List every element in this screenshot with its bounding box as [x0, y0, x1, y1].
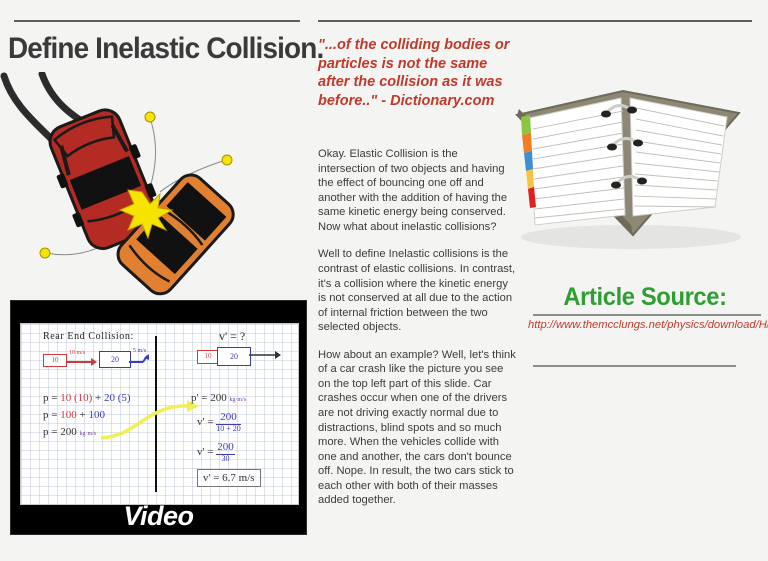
debris-dot-3 — [40, 248, 50, 258]
eq1-lhs: p = — [43, 392, 57, 404]
left-arrow-a — [67, 358, 97, 366]
left-diagram-velocity-a: 10 m/s — [69, 350, 85, 356]
eq2-plus: + — [79, 409, 85, 421]
notebook-page-right — [630, 98, 727, 216]
body-text-column: Okay. Elastic Collision is the intersect… — [318, 147, 516, 521]
r-eq3-fraction: 200 30 — [216, 442, 235, 463]
tab-blue — [524, 151, 533, 171]
right-equation-3: v' = 200 30 — [197, 442, 235, 463]
left-equation-3: p = 200 kg·m/s — [43, 426, 96, 438]
body-paragraph-2: Well to define Inelastic collisions is t… — [318, 247, 516, 334]
r-eq2-fraction: 200 10 + 20 — [216, 412, 241, 433]
r-eq1-lhs: p' = — [191, 392, 207, 404]
tab-yellow — [526, 169, 534, 189]
debris-dot-1 — [145, 112, 155, 122]
tab-green — [521, 115, 531, 135]
right-diagram-mass-a: 10 — [197, 350, 219, 364]
left-diagram-mass-a: 10 — [43, 354, 67, 367]
debris-dot-2 — [222, 155, 232, 165]
article-source-rule-bottom — [533, 365, 736, 367]
notebook-page-left — [529, 98, 625, 225]
r-eq3-lhs: v' = — [197, 446, 213, 458]
right-equation-2: v' = 200 10 + 20 — [197, 412, 241, 433]
slide-root: Define Inelastic Collision. — [0, 0, 768, 561]
video-label: Video — [11, 501, 306, 532]
flow-arrow — [99, 398, 203, 440]
left-arrow-b — [129, 354, 151, 366]
article-source-rule-top — [533, 314, 761, 316]
body-paragraph-1: Okay. Elastic Collision is the intersect… — [318, 147, 516, 234]
r-eq2-numerator: 200 — [216, 412, 241, 425]
divider-rule-right — [318, 20, 752, 22]
whiteboard: Rear End Collision: 10 10 m/s 20 5 m/s p… — [20, 323, 299, 505]
r-eq1-unit: kg·m/s — [229, 397, 246, 403]
whiteboard-answer: v' = 6.7 m/s — [197, 469, 261, 487]
right-arrow — [249, 351, 281, 359]
notebook-illustration — [505, 85, 750, 260]
article-source-url[interactable]: http://www.themcclungs.net/physics/downl… — [528, 318, 764, 333]
r-eq3-numerator: 200 — [216, 442, 235, 455]
eq3-lhs: p = — [43, 426, 57, 438]
r-eq2-lhs: v' = — [197, 416, 213, 428]
eq3-a: 200 — [60, 426, 77, 438]
r-eq1-val: 200 — [210, 392, 227, 404]
left-equation-2: p = 100 + 100 — [43, 409, 105, 421]
eq1-a: 10 (10) — [60, 392, 92, 404]
eq2-a: 100 — [60, 409, 77, 421]
r-eq2-denominator: 10 + 20 — [216, 425, 241, 434]
body-paragraph-3: How about an example? Well, let's think … — [318, 348, 516, 508]
right-diagram-mass-b: 20 — [217, 347, 251, 366]
eq2-lhs: p = — [43, 409, 57, 421]
article-source-heading: Article Source: — [536, 283, 755, 312]
dictionary-quote: "...of the colliding bodies or particles… — [318, 36, 514, 111]
divider-rule-left — [14, 20, 300, 22]
car-crash-illustration — [0, 72, 300, 300]
eq3-unit: kg·m/s — [79, 431, 96, 437]
tab-orange — [522, 133, 532, 153]
whiteboard-heading: Rear End Collision: — [43, 332, 134, 342]
left-diagram-mass-b: 20 — [99, 351, 131, 368]
right-diagram-question: v' = ? — [219, 330, 245, 342]
page-title: Define Inelastic Collision. — [8, 32, 323, 66]
right-equation-1: p' = 200 kg·m/s — [191, 392, 246, 404]
video-panel[interactable]: Rear End Collision: 10 10 m/s 20 5 m/s p… — [10, 300, 307, 535]
r-eq3-denominator: 30 — [216, 455, 235, 464]
